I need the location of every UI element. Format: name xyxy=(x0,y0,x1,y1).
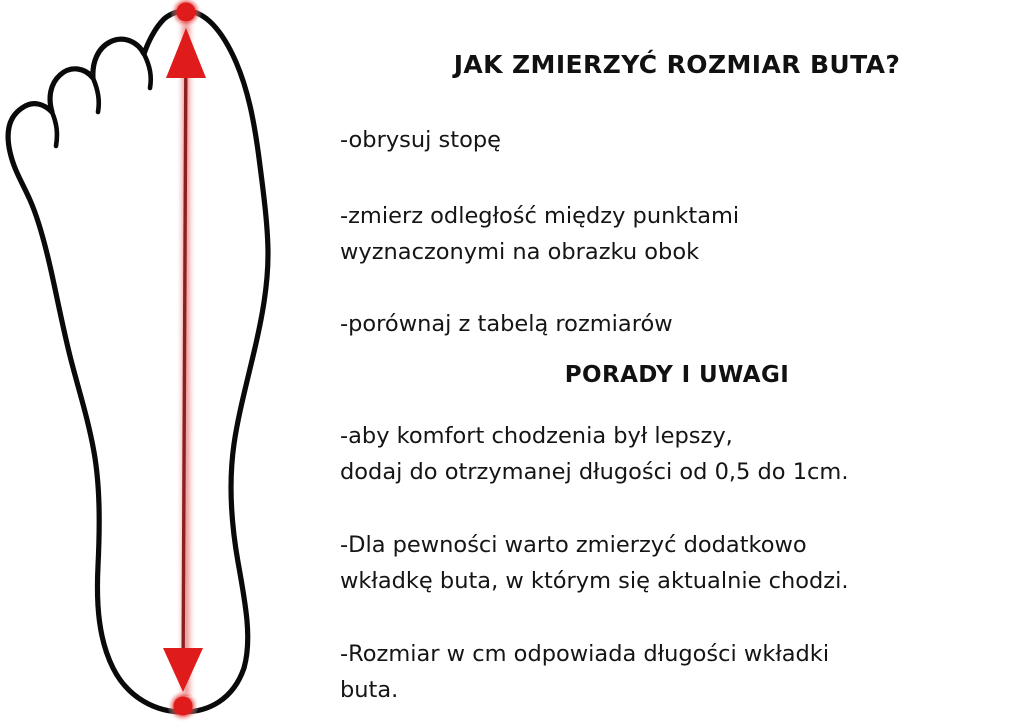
step-measure: -zmierz odległość między punktami wyznac… xyxy=(340,198,1024,270)
tip-size-line-1: -Rozmiar w cm odpowiada długości wkładki xyxy=(340,636,1024,672)
tip-comfort-line-1: -aby komfort chodzenia był lepszy, xyxy=(340,418,1024,454)
infographic-page: JAK ZMIERZYĆ ROZMIAR BUTA? -obrysuj stop… xyxy=(0,0,1024,724)
instructions-panel: JAK ZMIERZYĆ ROZMIAR BUTA? -obrysuj stop… xyxy=(330,0,1024,724)
foot-outline-path xyxy=(8,11,268,712)
tip-size-line-2: buta. xyxy=(340,672,1024,708)
step-compare: -porównaj z tabelą rozmiarów xyxy=(340,306,1024,342)
foot-outline-diagram xyxy=(0,0,330,724)
step-measure-line-2: wyznaczonymi na obrazku obok xyxy=(340,234,1024,270)
tip-comfort: -aby komfort chodzenia był lepszy, dodaj… xyxy=(340,418,1024,490)
tip-comfort-line-2: dodaj do otrzymanej długości od 0,5 do 1… xyxy=(340,454,1024,490)
tip-insole-line-1: -Dla pewności warto zmierzyć dodatkowo xyxy=(340,527,1024,563)
step-outline: -obrysuj stopę xyxy=(340,122,1024,158)
step-measure-line-1: -zmierz odległość między punktami xyxy=(340,198,1024,234)
tips-title: PORADY I UWAGI xyxy=(330,362,1024,388)
foot-diagram-panel xyxy=(0,0,330,724)
tip-insole: -Dla pewności warto zmierzyć dodatkowo w… xyxy=(340,527,1024,599)
step-compare-line-1: -porównaj z tabelą rozmiarów xyxy=(340,306,1024,342)
tip-insole-line-2: wkładkę buta, w którym się aktualnie cho… xyxy=(340,563,1024,599)
step-outline-line-1: -obrysuj stopę xyxy=(340,122,1024,158)
toe-measurement-dot-core-icon xyxy=(177,3,196,22)
heel-measurement-dot-core-icon xyxy=(174,697,193,716)
tip-size: -Rozmiar w cm odpowiada długości wkładki… xyxy=(340,636,1024,708)
page-title: JAK ZMIERZYĆ ROZMIAR BUTA? xyxy=(330,50,1024,79)
